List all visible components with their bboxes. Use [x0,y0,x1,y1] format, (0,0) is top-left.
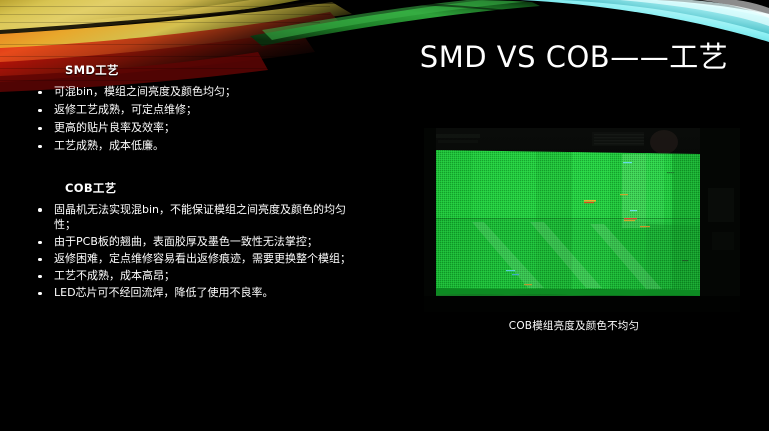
cob-section-heading: COB工艺 [0,180,370,196]
left-content-column: SMD工艺 可混bin，模组之间亮度及颜色均匀； 返修工艺成熟，可定点维修； 更… [0,52,370,412]
list-item: 工艺成熟，成本低廉。 [28,138,354,154]
list-item: 工艺不成熟，成本高昂； [28,268,354,284]
smd-section: SMD工艺 可混bin，模组之间亮度及颜色均匀； 返修工艺成熟，可定点维修； 更… [0,52,370,154]
smd-bullet-list: 可混bin，模组之间亮度及颜色均匀； 返修工艺成熟，可定点维修； 更高的贴片良率… [0,84,370,154]
led-wall-photo [424,128,740,312]
list-item: 由于PCB板的翘曲，表面胶厚及墨色一致性无法掌控； [28,234,354,250]
page-title: SMD VS COB——工艺 [384,40,764,74]
smd-section-heading: SMD工艺 [0,52,370,78]
list-item: 更高的贴片良率及效率； [28,120,354,136]
slide-canvas: SMD工艺 可混bin，模组之间亮度及颜色均匀； 返修工艺成熟，可定点维修； 更… [0,0,769,431]
photo-caption: COB模组亮度及颜色不均匀 [384,318,764,333]
list-item: 可混bin，模组之间亮度及颜色均匀； [28,84,354,100]
right-content-column: SMD VS COB——工艺 [370,0,769,431]
list-item: 返修困难，定点维修容易看出返修痕迹，需要更换整个模组； [28,251,354,267]
list-item: 返修工艺成熟，可定点维修； [28,102,354,118]
list-item: LED芯片可不经回流焊，降低了使用不良率。 [28,285,354,301]
list-item: 固晶机无法实现混bin，不能保证模组之间亮度及颜色的均匀性； [28,202,354,233]
cob-section: COB工艺 固晶机无法实现混bin，不能保证模组之间亮度及颜色的均匀性； 由于P… [0,180,370,301]
cob-bullet-list: 固晶机无法实现混bin，不能保证模组之间亮度及颜色的均匀性； 由于PCB板的翘曲… [0,202,370,301]
